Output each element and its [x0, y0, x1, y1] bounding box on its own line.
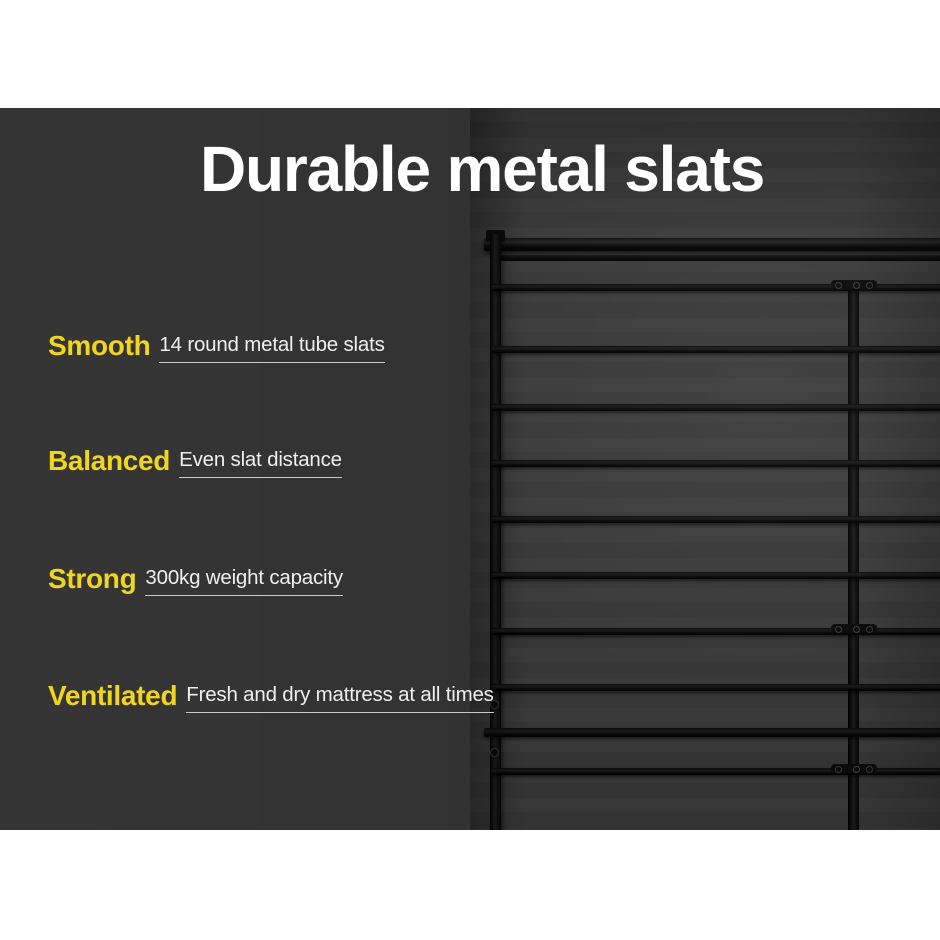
feature-key-balanced: Balanced — [48, 445, 170, 477]
feature-row-balanced: Balanced Even slat distance — [48, 445, 342, 482]
feature-value-balanced: Even slat distance — [179, 448, 342, 478]
page-title: Durable metal slats — [200, 137, 764, 201]
feature-row-strong: Strong 300kg weight capacity — [48, 563, 343, 600]
feature-key-smooth: Smooth — [48, 330, 150, 362]
feature-value-strong: 300kg weight capacity — [145, 566, 343, 596]
photo-lighting-overlay — [470, 108, 940, 830]
feature-key-ventilated: Ventilated — [48, 680, 177, 712]
feature-value-smooth: 14 round metal tube slats — [159, 333, 384, 363]
feature-key-strong: Strong — [48, 563, 136, 595]
feature-row-smooth: Smooth 14 round metal tube slats — [48, 330, 385, 367]
poster-canvas: Durable metal slats Smooth 14 round meta… — [0, 0, 940, 940]
feature-value-ventilated: Fresh and dry mattress at all times — [186, 683, 493, 713]
bed-slats-photo — [470, 108, 940, 830]
feature-row-ventilated: Ventilated Fresh and dry mattress at all… — [48, 680, 494, 717]
